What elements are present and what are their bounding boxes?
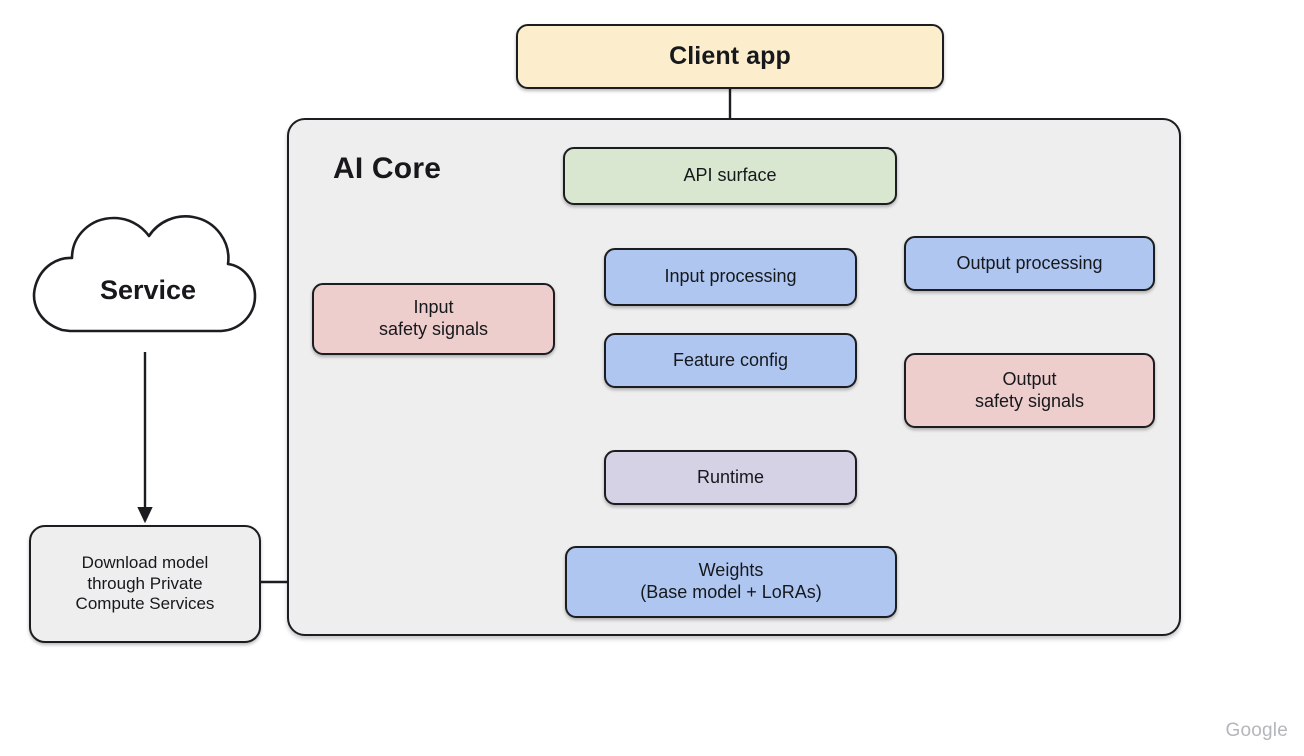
node-api-surface[interactable]: API surface xyxy=(563,147,897,205)
node-output-processing[interactable]: Output processing xyxy=(904,236,1155,291)
service-cloud-shape xyxy=(34,216,255,331)
node-download-model[interactable]: Download model through Private Compute S… xyxy=(29,525,261,643)
node-input-processing[interactable]: Input processing xyxy=(604,248,857,306)
node-weights[interactable]: Weights (Base model + LoRAs) xyxy=(565,546,897,618)
ai-core-title: AI Core xyxy=(333,152,441,186)
google-watermark: Google xyxy=(1226,720,1288,742)
node-output-safety-signals[interactable]: Output safety signals xyxy=(904,353,1155,428)
diagram-canvas: AI Core Service Client app API surface I… xyxy=(0,0,1304,756)
node-input-safety-signals[interactable]: Input safety signals xyxy=(312,283,555,355)
node-client-app[interactable]: Client app xyxy=(516,24,944,89)
service-cloud-label: Service xyxy=(42,275,254,306)
node-feature-config[interactable]: Feature config xyxy=(604,333,857,388)
node-runtime[interactable]: Runtime xyxy=(604,450,857,505)
